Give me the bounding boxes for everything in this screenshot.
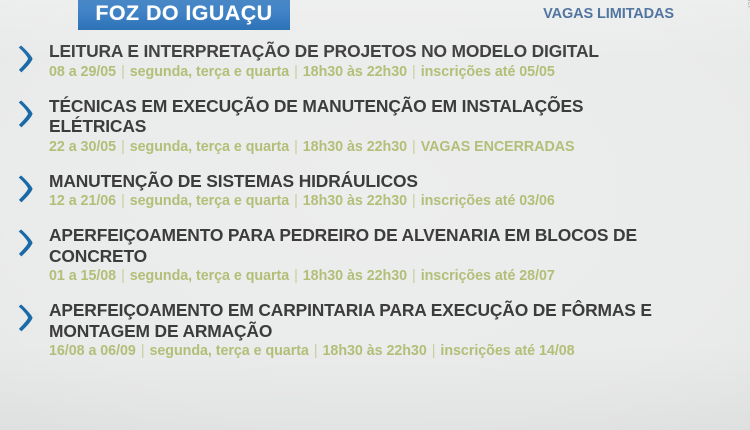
course-time: 18h30 às 22h30: [303, 64, 407, 80]
meta-separator: |: [116, 268, 130, 284]
meta-separator: |: [116, 193, 130, 209]
course-dates: 08 a 29/05: [49, 64, 116, 80]
meta-separator: |: [407, 268, 421, 284]
course-meta: 16/08 a 06/09|segunda, terça e quarta|18…: [49, 342, 750, 361]
chevron-right-icon: [18, 228, 36, 258]
course-item[interactable]: LEITURA E INTERPRETAÇÃO DE PROJETOS NO M…: [0, 41, 750, 82]
chevron-right-icon: [18, 99, 36, 129]
criteria-side-note: Consulte os critérios para partici: [746, 0, 750, 8]
meta-separator: |: [116, 64, 130, 80]
course-list: LEITURA E INTERPRETAÇÃO DE PROJETOS NO M…: [0, 41, 750, 375]
meta-separator: |: [136, 343, 150, 359]
course-meta: 01 a 15/08|segunda, terça e quarta|18h30…: [49, 267, 750, 286]
course-days: segunda, terça e quarta: [130, 193, 289, 209]
course-dates: 12 a 21/06: [49, 193, 116, 209]
course-item[interactable]: TÉCNICAS EM EXECUÇÃO DE MANUTENÇÃO EM IN…: [0, 96, 750, 157]
course-item[interactable]: MANUTENÇÃO DE SISTEMAS HIDRÁULICOS12 a 2…: [0, 171, 750, 212]
course-days: segunda, terça e quarta: [130, 268, 289, 284]
course-dates: 01 a 15/08: [49, 268, 116, 284]
course-title: APERFEIÇOAMENTO EM CARPINTARIA PARA EXEC…: [49, 300, 670, 341]
course-status: inscrições até 05/05: [421, 64, 555, 80]
course-item[interactable]: APERFEIÇOAMENTO PARA PEDREIRO DE ALVENAR…: [0, 225, 750, 286]
course-title: APERFEIÇOAMENTO PARA PEDREIRO DE ALVENAR…: [49, 225, 670, 266]
chevron-right-icon: [18, 303, 36, 333]
meta-separator: |: [407, 139, 421, 155]
course-status: VAGAS ENCERRADAS: [421, 139, 575, 155]
course-meta: 08 a 29/05|segunda, terça e quarta|18h30…: [49, 63, 750, 82]
course-title: MANUTENÇÃO DE SISTEMAS HIDRÁULICOS: [49, 171, 670, 192]
course-days: segunda, terça e quarta: [149, 343, 308, 359]
chevron-right-icon: [18, 44, 36, 74]
city-badge: FOZ DO IGUAÇU: [78, 0, 290, 30]
course-time: 18h30 às 22h30: [303, 139, 407, 155]
meta-separator: |: [407, 193, 421, 209]
course-days: segunda, terça e quarta: [130, 64, 289, 80]
course-item[interactable]: APERFEIÇOAMENTO EM CARPINTARIA PARA EXEC…: [0, 300, 750, 361]
meta-separator: |: [289, 64, 303, 80]
meta-separator: |: [289, 139, 303, 155]
course-time: 18h30 às 22h30: [303, 268, 407, 284]
course-title: LEITURA E INTERPRETAÇÃO DE PROJETOS NO M…: [49, 41, 670, 62]
course-status: inscrições até 28/07: [421, 268, 555, 284]
chevron-right-icon: [18, 174, 36, 204]
course-title: TÉCNICAS EM EXECUÇÃO DE MANUTENÇÃO EM IN…: [49, 96, 670, 137]
meta-separator: |: [427, 343, 441, 359]
course-time: 18h30 às 22h30: [303, 193, 407, 209]
meta-separator: |: [309, 343, 323, 359]
course-status: inscrições até 03/06: [421, 193, 555, 209]
course-status: inscrições até 14/08: [440, 343, 574, 359]
meta-separator: |: [289, 268, 303, 284]
course-meta: 12 a 21/06|segunda, terça e quarta|18h30…: [49, 192, 750, 211]
course-days: segunda, terça e quarta: [130, 139, 289, 155]
course-poster: FOZ DO IGUAÇU VAGAS LIMITADAS Consulte o…: [0, 0, 750, 430]
limited-vacancies-label: VAGAS LIMITADAS: [543, 6, 674, 22]
course-dates: 22 a 30/05: [49, 139, 116, 155]
meta-separator: |: [407, 64, 421, 80]
course-time: 18h30 às 22h30: [323, 343, 427, 359]
city-badge-label: FOZ DO IGUAÇU: [95, 0, 272, 24]
meta-separator: |: [116, 139, 130, 155]
poster-header: FOZ DO IGUAÇU VAGAS LIMITADAS: [0, 0, 750, 34]
course-dates: 16/08 a 06/09: [49, 343, 136, 359]
course-meta: 22 a 30/05|segunda, terça e quarta|18h30…: [49, 138, 750, 157]
meta-separator: |: [289, 193, 303, 209]
